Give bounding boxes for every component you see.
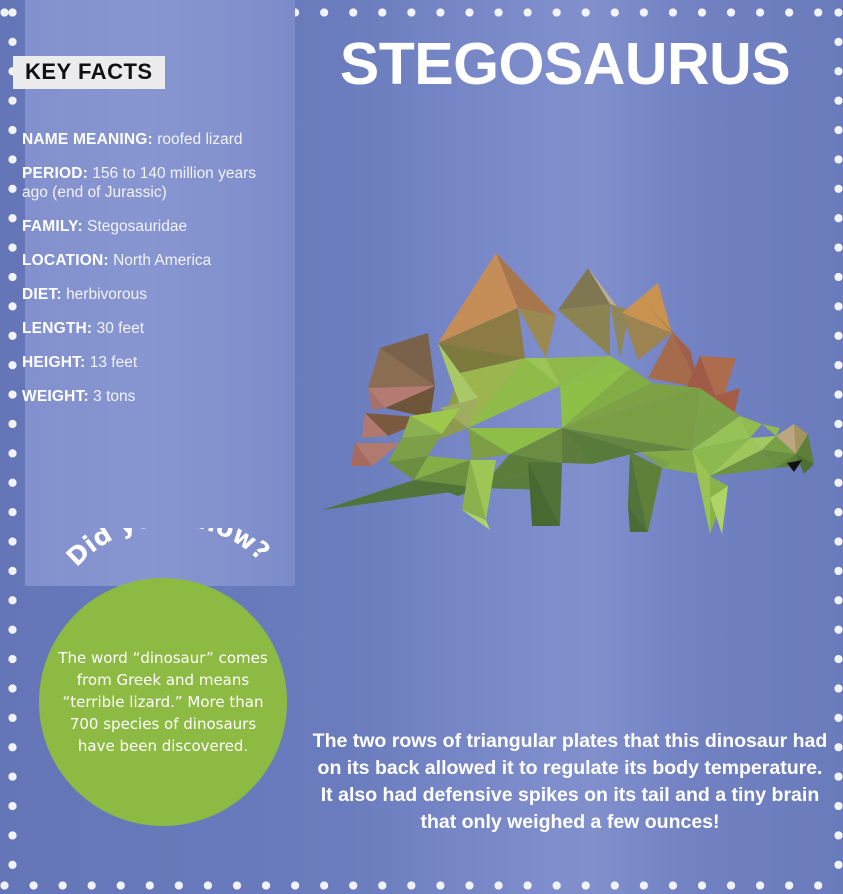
- fact-diet: DIET: herbivorous: [22, 285, 268, 304]
- fact-period: PERIOD: 156 to 140 million years ago (en…: [22, 164, 268, 202]
- did-you-know-text: The word “dinosaur” comes from Greek and…: [56, 647, 270, 757]
- fact-label: DIET:: [22, 286, 62, 303]
- did-you-know-circle: The word “dinosaur” comes from Greek and…: [39, 578, 287, 826]
- fact-label: NAME MEANING:: [22, 131, 153, 148]
- fact-value: North America: [113, 252, 211, 269]
- fact-length: LENGTH: 30 feet: [22, 319, 268, 338]
- fact-label: PERIOD:: [22, 165, 88, 182]
- dotted-border-right: [834, 8, 843, 890]
- did-you-know-section: Did you know? The word “dinosaur” comes …: [37, 528, 303, 828]
- fact-value: roofed lizard: [157, 131, 242, 148]
- dotted-border-bottom: [0, 881, 843, 890]
- page-title: STEGOSAURUS: [295, 32, 835, 96]
- key-facts-heading: KEY FACTS: [13, 56, 165, 89]
- key-facts-list: NAME MEANING: roofed lizard PERIOD: 156 …: [22, 130, 268, 421]
- did-you-know-arc-label: Did you know?: [61, 528, 276, 572]
- poster-caption: The two rows of triangular plates that t…: [312, 728, 828, 836]
- fact-location: LOCATION: North America: [22, 251, 268, 270]
- fact-family: FAMILY: Stegosauridae: [22, 217, 268, 236]
- fact-label: WEIGHT:: [22, 388, 89, 405]
- fact-label: LOCATION:: [22, 252, 109, 269]
- fact-value: 3 tons: [93, 388, 135, 405]
- fact-label: LENGTH:: [22, 320, 92, 337]
- fact-value: Stegosauridae: [87, 218, 187, 235]
- fact-weight: WEIGHT: 3 tons: [22, 387, 268, 406]
- fact-value: 30 feet: [97, 320, 144, 337]
- fact-value: 13 feet: [90, 354, 137, 371]
- stegosaurus-illustration: [310, 238, 830, 538]
- fact-value: herbivorous: [66, 286, 147, 303]
- fact-label: FAMILY:: [22, 218, 83, 235]
- fact-label: HEIGHT:: [22, 354, 85, 371]
- dinosaur-fact-poster: KEY FACTS NAME MEANING: roofed lizard PE…: [0, 0, 843, 894]
- fact-height: HEIGHT: 13 feet: [22, 353, 268, 372]
- stegosaurus-low-poly-icon: [310, 238, 830, 538]
- fact-name-meaning: NAME MEANING: roofed lizard: [22, 130, 268, 149]
- dotted-border-left: [8, 8, 17, 890]
